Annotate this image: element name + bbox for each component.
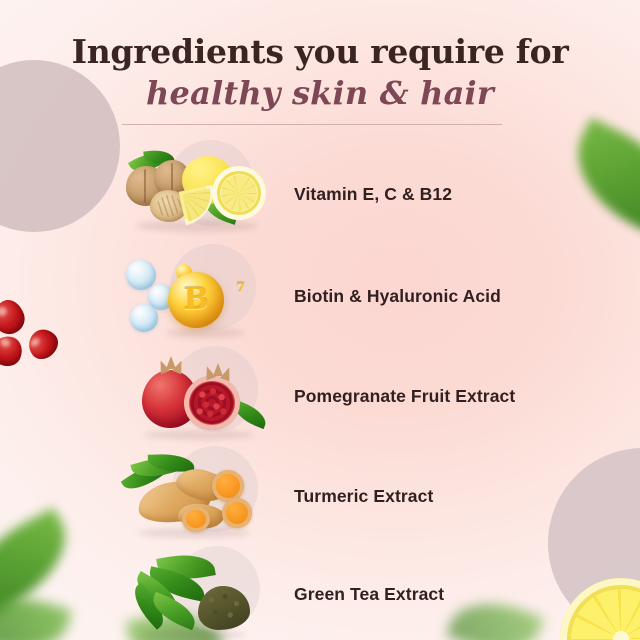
blurred-leaf-bottom-left-decoration [0, 508, 84, 623]
ingredient-row-vitamin: Vitamin E, C & B12 [120, 146, 550, 242]
page-title-line-one: Ingredients you require for [0, 32, 640, 72]
pomegranate-aril-decoration [0, 296, 29, 338]
page-title-line-two: healthy skin & hair [0, 72, 640, 114]
ingredient-row-green-tea: Green Tea Extract [120, 546, 550, 640]
blurred-leaf-right-decoration [557, 118, 640, 241]
ingredient-row-pomegranate: Pomegranate Fruit Extract [120, 348, 550, 444]
b7-letter: B [183, 285, 208, 315]
ingredient-row-biotin: B 7 Biotin & Hyaluronic Acid [120, 248, 550, 344]
poster-header: Ingredients you require for healthy skin… [0, 32, 640, 114]
ingredients-poster: Ingredients you require for healthy skin… [0, 0, 640, 640]
ingredient-label: Biotin & Hyaluronic Acid [294, 286, 501, 307]
ingredient-label: Green Tea Extract [294, 584, 444, 605]
walnut-lemon-icon [120, 146, 280, 242]
ingredient-row-turmeric: Turmeric Extract [120, 448, 550, 544]
blurred-leaf-bottom-left-secondary-decoration [0, 584, 72, 640]
pomegranate-aril-decoration [0, 331, 27, 371]
pomegranate-aril-decoration [23, 324, 64, 365]
ingredient-label: Pomegranate Fruit Extract [294, 386, 515, 407]
green-tea-leaves-icon [120, 546, 280, 640]
ingredient-label: Turmeric Extract [294, 486, 433, 507]
turmeric-root-icon [120, 448, 280, 544]
mauve-circle-bottom-right-decoration [548, 448, 640, 638]
lemon-slice-bottom-right-decoration [560, 578, 640, 640]
title-divider [122, 124, 502, 125]
b7-capsule-bubbles-icon: B 7 [120, 248, 280, 344]
ingredient-label: Vitamin E, C & B12 [294, 184, 452, 205]
b7-sphere: B 7 [168, 272, 224, 328]
pomegranate-icon [120, 348, 280, 444]
